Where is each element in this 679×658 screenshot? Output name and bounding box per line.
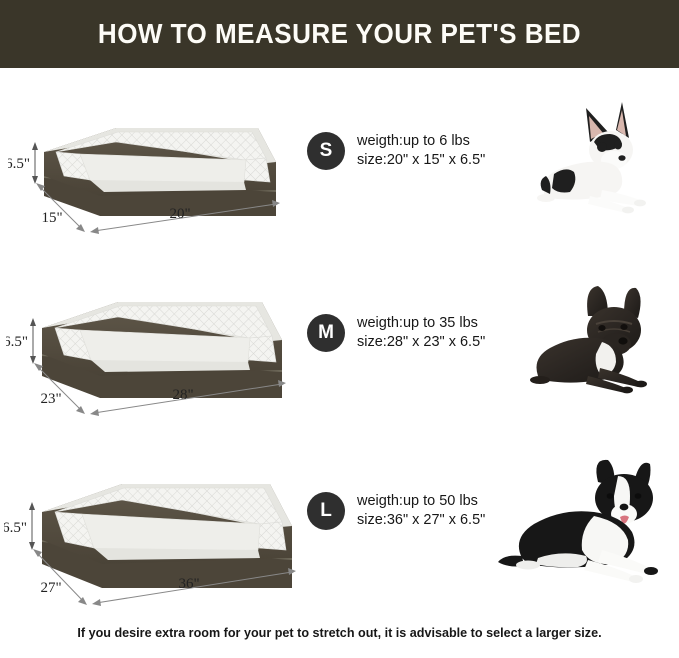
- size-row-medium: 6.5" 23" 28" M weigth:up to 35 lbs size:…: [0, 258, 679, 428]
- size-line-medium: size:28" x 23" x 6.5": [357, 333, 485, 352]
- dim-height-large: 6.5": [4, 520, 27, 536]
- bed-diagram-medium-svg: 6.5" 23" 28": [6, 274, 316, 424]
- weight-line-small: weigth:up to 6 lbs: [357, 132, 485, 151]
- dim-height-small: 6.5": [8, 156, 30, 172]
- bed-illustration-small: 6.5" 15" 20": [8, 100, 308, 240]
- size-line-large: size:36" x 27" x 6.5": [357, 511, 485, 530]
- spec-text-medium: weigth:up to 35 lbs size:28" x 23" x 6.5…: [357, 314, 485, 351]
- size-badge-small: S: [307, 132, 345, 170]
- bed-diagram-small-svg: 6.5" 15" 20": [8, 100, 308, 240]
- dim-depth-small: 15": [41, 210, 62, 226]
- french-bulldog-illustration: [524, 276, 669, 396]
- dim-depth-large: 27": [40, 580, 61, 596]
- size-badge-medium: M: [307, 314, 345, 352]
- bed-diagram-large-svg: 6.5" 27" 36": [4, 456, 324, 616]
- chihuahua-photo: [528, 98, 668, 218]
- dim-width-medium: 28": [172, 387, 193, 403]
- size-row-small: 6.5" 15" 20" S weigth:up to 6 lbs size:2…: [0, 78, 679, 248]
- dim-depth-medium: 23": [40, 391, 61, 407]
- bed-illustration-large: 6.5" 27" 36": [4, 456, 324, 616]
- page-title: HOW TO MEASURE YOUR PET'S BED: [24, 0, 655, 68]
- size-badge-large: L: [307, 492, 345, 530]
- spec-block-medium: M weigth:up to 35 lbs size:28" x 23" x 6…: [307, 314, 485, 352]
- weight-line-medium: weigth:up to 35 lbs: [357, 314, 485, 333]
- dim-width-large: 36": [178, 576, 199, 592]
- dim-height-medium: 6.5": [6, 334, 28, 350]
- dim-width-small: 20": [169, 206, 190, 222]
- spec-text-small: weigth:up to 6 lbs size:20" x 15" x 6.5": [357, 132, 485, 169]
- spec-block-large: L weigth:up to 50 lbs size:36" x 27" x 6…: [307, 492, 485, 530]
- bed-illustration-medium: 6.5" 23" 28": [6, 274, 316, 424]
- chihuahua-illustration: [528, 98, 668, 218]
- spec-block-small: S weigth:up to 6 lbs size:20" x 15" x 6.…: [307, 132, 485, 170]
- border-collie-photo: [498, 446, 676, 591]
- weight-line-large: weigth:up to 50 lbs: [357, 492, 485, 511]
- spec-text-large: weigth:up to 50 lbs size:36" x 27" x 6.5…: [357, 492, 485, 529]
- french-bulldog-photo: [524, 276, 669, 396]
- infographic-page: HOW TO MEASURE YOUR PET'S BED: [0, 0, 679, 658]
- size-line-small: size:20" x 15" x 6.5": [357, 151, 485, 170]
- footer-note: If you desire extra room for your pet to…: [0, 626, 679, 640]
- size-row-large: 6.5" 27" 36" L weigth:up to 50 lbs size:…: [0, 438, 679, 623]
- border-collie-illustration: [498, 446, 676, 591]
